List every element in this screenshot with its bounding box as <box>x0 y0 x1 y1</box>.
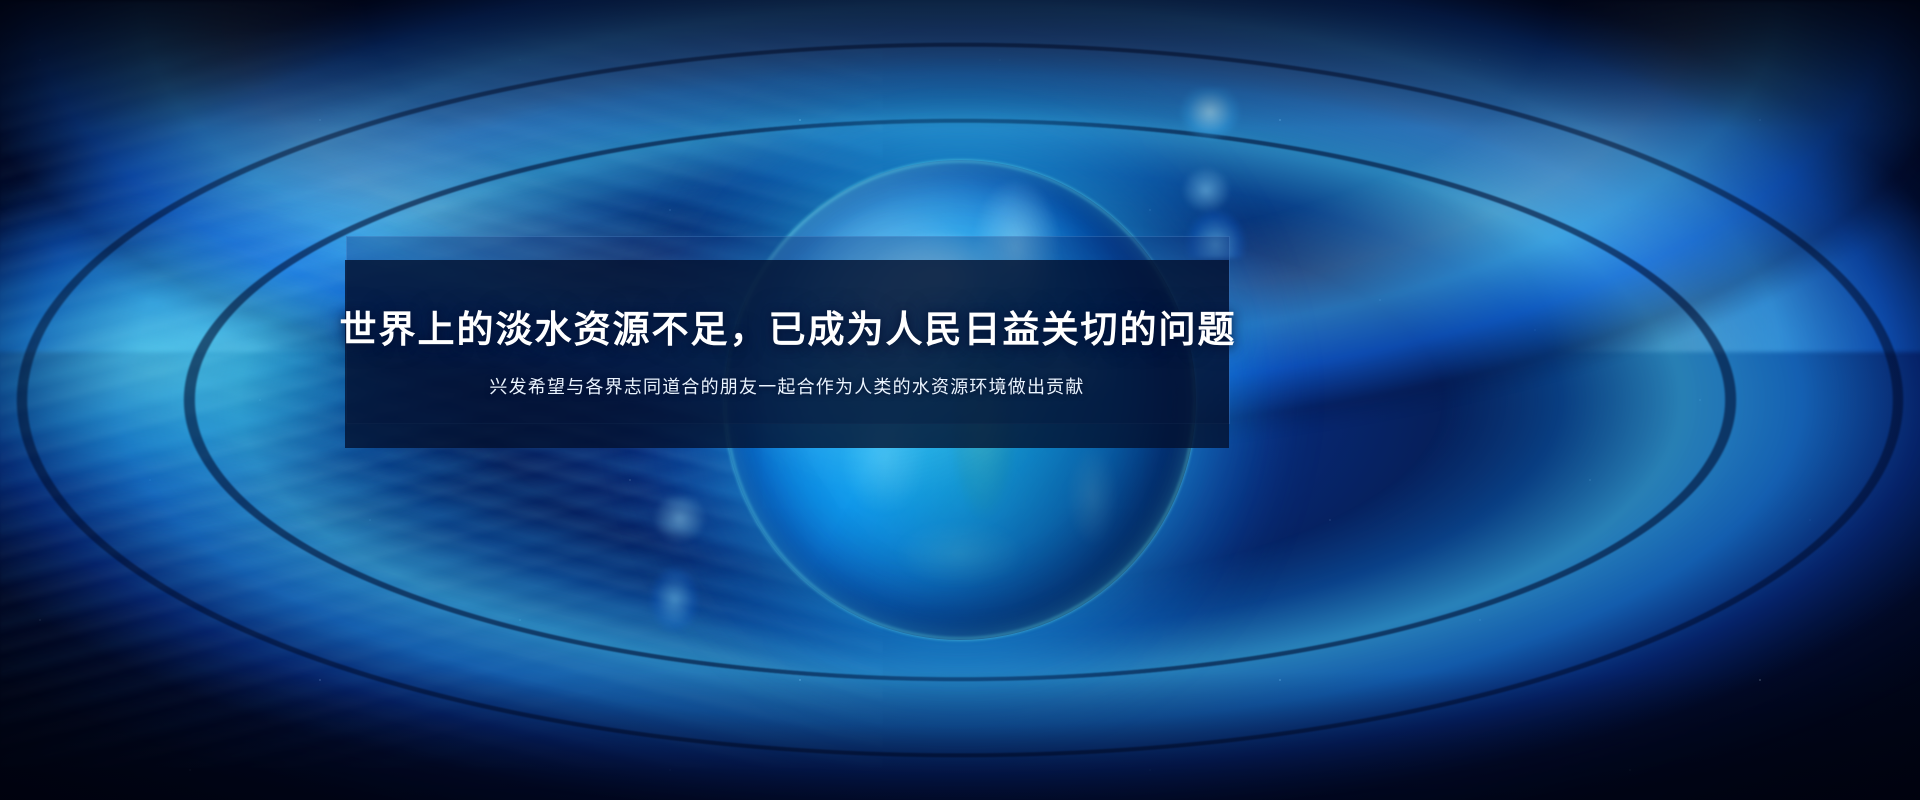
hero-banner: 世界上的淡水资源不足，已成为人民日益关切的问题 兴发希望与各界志同道合的朋友一起… <box>0 0 1920 800</box>
banner-headline: 世界上的淡水资源不足，已成为人民日益关切的问题 <box>338 308 1237 352</box>
hero-text-overlay: 世界上的淡水资源不足，已成为人民日益关切的问题 兴发希望与各界志同道合的朋友一起… <box>346 236 1230 424</box>
water-droplet-icon <box>1162 88 1258 258</box>
banner-subheadline: 兴发希望与各界志同道合的朋友一起合作为人类的水资源环境做出贡献 <box>489 375 1084 400</box>
overlay-inner-panel: 世界上的淡水资源不足，已成为人民日益关切的问题 兴发希望与各界志同道合的朋友一起… <box>345 260 1229 448</box>
water-droplet-icon-2 <box>634 496 722 636</box>
